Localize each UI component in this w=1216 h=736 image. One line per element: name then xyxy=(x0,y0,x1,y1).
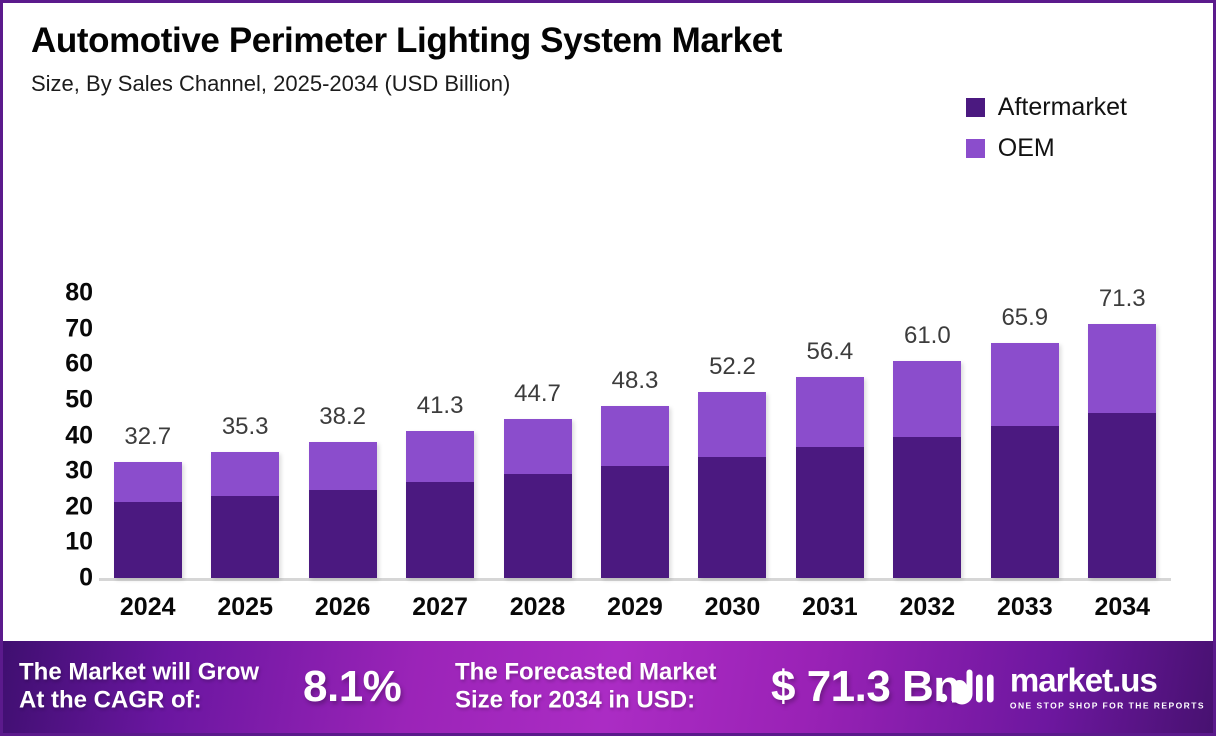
header: Automotive Perimeter Lighting System Mar… xyxy=(31,21,1193,97)
bar-stack[interactable] xyxy=(1088,324,1156,578)
bar-stack[interactable] xyxy=(309,442,377,578)
legend-swatch-icon xyxy=(966,98,985,117)
y-axis-tick: 60 xyxy=(65,352,93,377)
bar-group[interactable]: 41.3 xyxy=(406,293,474,578)
bar-segment-oem[interactable] xyxy=(601,406,669,466)
market-us-logo-icon xyxy=(938,666,1000,708)
x-axis-label: 2027 xyxy=(406,593,474,622)
bar-total-label: 35.3 xyxy=(222,415,269,439)
logo-name: market.us xyxy=(1010,664,1157,697)
y-axis-tick: 80 xyxy=(65,281,93,306)
chart-plot-area: 80706050403020100 32.735.338.241.344.748… xyxy=(3,293,1216,633)
x-axis-label: 2028 xyxy=(504,593,572,622)
bar-stack[interactable] xyxy=(796,377,864,578)
bar-stack[interactable] xyxy=(991,343,1059,578)
bar-segment-oem[interactable] xyxy=(991,343,1059,425)
x-axis-label: 2033 xyxy=(991,593,1059,622)
x-axis-label: 2029 xyxy=(601,593,669,622)
cagr-value: 8.1% xyxy=(303,665,401,709)
bar-total-label: 44.7 xyxy=(514,382,561,406)
y-axis-tick: 20 xyxy=(65,494,93,519)
cagr-label: The Market will Grow At the CAGR of: xyxy=(19,659,259,716)
bar-segment-oem[interactable] xyxy=(406,431,474,482)
x-axis-label: 2026 xyxy=(309,593,377,622)
x-axis-label: 2024 xyxy=(114,593,182,622)
bar-segment-aftermarket[interactable] xyxy=(796,447,864,578)
bar-group[interactable]: 44.7 xyxy=(504,293,572,578)
x-axis-label: 2030 xyxy=(698,593,766,622)
y-axis-tick: 30 xyxy=(65,459,93,484)
legend-item-label: Aftermarket xyxy=(998,95,1127,120)
bar-segment-aftermarket[interactable] xyxy=(991,426,1059,578)
bar-segment-oem[interactable] xyxy=(796,377,864,447)
bar-group[interactable]: 38.2 xyxy=(309,293,377,578)
bar-stack[interactable] xyxy=(504,419,572,578)
bar-segment-oem[interactable] xyxy=(114,462,182,503)
bar-segment-aftermarket[interactable] xyxy=(406,482,474,578)
market-us-logo[interactable]: market.us ONE STOP SHOP FOR THE REPORTS xyxy=(938,664,1205,711)
footer-banner: The Market will Grow At the CAGR of: 8.1… xyxy=(3,641,1216,733)
bar-total-label: 56.4 xyxy=(807,340,854,364)
legend-item-label: OEM xyxy=(998,136,1055,161)
legend-item-aftermarket[interactable]: Aftermarket xyxy=(966,95,1127,120)
bar-segment-oem[interactable] xyxy=(211,452,279,496)
forecast-size-label-line2: Size for 2034 in USD: xyxy=(455,687,716,715)
bar-group[interactable]: 32.7 xyxy=(114,293,182,578)
bar-stack[interactable] xyxy=(601,406,669,578)
forecast-size-label: The Forecasted Market Size for 2034 in U… xyxy=(455,659,716,716)
bar-stack[interactable] xyxy=(698,392,766,578)
bar-total-label: 38.2 xyxy=(319,405,366,429)
bar-group[interactable]: 52.2 xyxy=(698,293,766,578)
bar-total-label: 61.0 xyxy=(904,324,951,348)
bar-group[interactable]: 71.3 xyxy=(1088,293,1156,578)
y-axis: 80706050403020100 xyxy=(29,293,93,578)
bar-segment-aftermarket[interactable] xyxy=(114,502,182,578)
legend-item-oem[interactable]: OEM xyxy=(966,136,1127,161)
y-axis-tick: 50 xyxy=(65,387,93,412)
forecast-size-label-line1: The Forecasted Market xyxy=(455,659,716,687)
bar-total-label: 71.3 xyxy=(1099,287,1146,311)
bar-total-label: 41.3 xyxy=(417,394,464,418)
bar-segment-oem[interactable] xyxy=(698,392,766,457)
bar-segment-aftermarket[interactable] xyxy=(893,437,961,578)
infographic-root: Automotive Perimeter Lighting System Mar… xyxy=(0,0,1216,736)
bar-segment-oem[interactable] xyxy=(893,361,961,437)
bar-group[interactable]: 61.0 xyxy=(893,293,961,578)
y-axis-tick: 10 xyxy=(65,530,93,555)
x-axis-label: 2034 xyxy=(1088,593,1156,622)
legend-swatch-icon xyxy=(966,139,985,158)
bar-segment-oem[interactable] xyxy=(309,442,377,490)
bar-group[interactable]: 48.3 xyxy=(601,293,669,578)
bar-group[interactable]: 35.3 xyxy=(211,293,279,578)
bar-total-label: 48.3 xyxy=(612,369,659,393)
bar-group[interactable]: 65.9 xyxy=(991,293,1059,578)
bar-stack[interactable] xyxy=(211,452,279,578)
bar-stack[interactable] xyxy=(406,431,474,578)
chart-legend: Aftermarket OEM xyxy=(966,95,1127,161)
page-title: Automotive Perimeter Lighting System Mar… xyxy=(31,21,1193,61)
bar-group[interactable]: 56.4 xyxy=(796,293,864,578)
cagr-label-line2: At the CAGR of: xyxy=(19,687,259,715)
x-axis-label: 2031 xyxy=(796,593,864,622)
bar-stack[interactable] xyxy=(114,462,182,578)
bar-segment-aftermarket[interactable] xyxy=(211,496,279,578)
x-axis-line xyxy=(99,578,1171,581)
bar-segment-oem[interactable] xyxy=(1088,324,1156,413)
bar-stack[interactable] xyxy=(893,361,961,578)
x-axis-label: 2025 xyxy=(211,593,279,622)
logo-tagline: ONE STOP SHOP FOR THE REPORTS xyxy=(1010,701,1205,711)
forecast-size-value: $ 71.3 Bn xyxy=(771,665,960,709)
bar-segment-aftermarket[interactable] xyxy=(1088,413,1156,578)
cagr-label-line1: The Market will Grow xyxy=(19,659,259,687)
bar-total-label: 32.7 xyxy=(124,425,171,449)
bar-segment-oem[interactable] xyxy=(504,419,572,475)
x-axis-label: 2032 xyxy=(893,593,961,622)
y-axis-tick: 70 xyxy=(65,316,93,341)
logo-text-block: market.us ONE STOP SHOP FOR THE REPORTS xyxy=(1010,664,1205,711)
bar-total-label: 52.2 xyxy=(709,355,756,379)
bar-series-container: 32.735.338.241.344.748.352.256.461.065.9… xyxy=(99,293,1171,578)
x-axis-labels: 2024202520262027202820292030203120322033… xyxy=(99,593,1171,622)
bar-segment-aftermarket[interactable] xyxy=(504,474,572,578)
bar-segment-aftermarket[interactable] xyxy=(698,457,766,578)
bar-segment-aftermarket[interactable] xyxy=(309,490,377,578)
y-axis-tick: 40 xyxy=(65,423,93,448)
bar-total-label: 65.9 xyxy=(1001,306,1048,330)
y-axis-tick: 0 xyxy=(79,566,93,591)
bar-segment-aftermarket[interactable] xyxy=(601,466,669,578)
